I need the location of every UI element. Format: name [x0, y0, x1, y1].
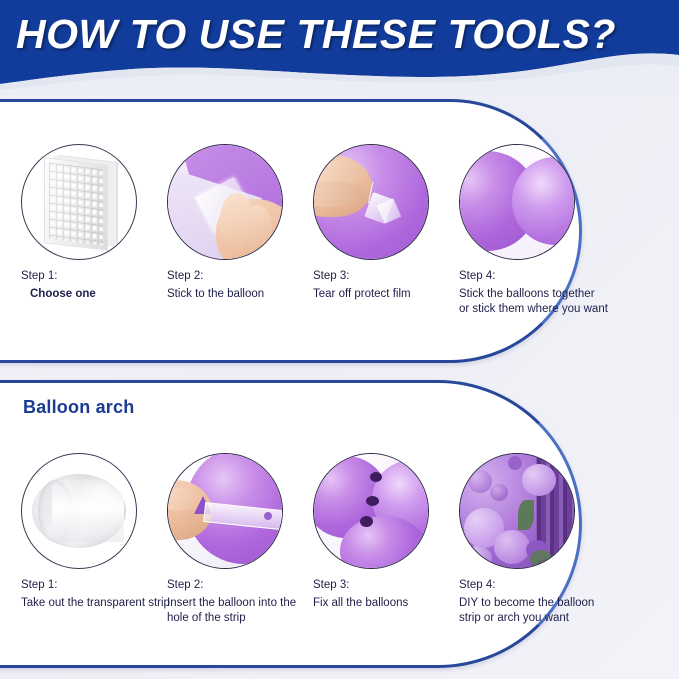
- arch-balloon-7: [508, 456, 522, 470]
- step-label: Step 3:: [313, 269, 463, 284]
- insert-balloon-image: [167, 453, 283, 569]
- glue-dot-sheet-icon: [44, 157, 108, 251]
- finger-2: [242, 205, 272, 253]
- caption: Step 4: DIY to become the balloon strip …: [459, 578, 609, 625]
- arch-balloon-5: [490, 484, 508, 501]
- section-card-balloon-arch: Balloon arch Step 1: Take out the transp…: [0, 380, 582, 668]
- knot-1: [370, 472, 382, 482]
- panel-arch-step-2: Step 2: Insert the balloon into the hole…: [167, 453, 317, 625]
- step-description: Take out the transparent strip: [21, 596, 171, 611]
- step-description-line2: hole of the strip: [167, 611, 317, 626]
- panel-step-3: Step 3: Tear off protect film: [313, 144, 463, 302]
- strip-roll-band: [52, 480, 124, 542]
- caption: Step 2: Stick to the balloon: [167, 269, 317, 302]
- arch-balloon-2: [494, 530, 530, 564]
- greenery-2: [530, 550, 552, 568]
- arch-balloon-3: [522, 464, 556, 496]
- caption: Step 4: Stick the balloons together or s…: [459, 269, 609, 316]
- balloon-arch-photo: [459, 453, 575, 569]
- instruction-graphic: HOW TO USE THESE TOOLS? Step 1: Choose o…: [0, 0, 679, 679]
- step-description-line2: or stick them where you want: [459, 302, 609, 317]
- caption: Step 1: Take out the transparent strip: [21, 578, 171, 611]
- step-description: Stick to the balloon: [167, 287, 317, 302]
- two-balloons-image: [459, 144, 575, 260]
- step-description: Stick the balloons together: [459, 287, 609, 302]
- step-description: Choose one: [30, 287, 171, 302]
- step-label: Step 4:: [459, 269, 609, 284]
- page-title: HOW TO USE THESE TOOLS?: [16, 8, 676, 60]
- panel-step-4: Step 4: Stick the balloons together or s…: [459, 144, 609, 316]
- panel-step-1: Step 1: Choose one: [21, 144, 171, 302]
- photo-background: [460, 454, 574, 568]
- step-description-line2: strip or arch you want: [459, 611, 609, 626]
- knot-3: [360, 516, 373, 527]
- step-label: Step 2:: [167, 269, 317, 284]
- caption: Step 1: Choose one: [21, 269, 171, 302]
- stick-to-balloon-image: [167, 144, 283, 260]
- section-card-basic-tools: Step 1: Choose one Step 2: Stick to the …: [0, 99, 582, 363]
- section-heading: Balloon arch: [23, 397, 134, 418]
- step-label: Step 3:: [313, 578, 463, 593]
- step-description: Insert the balloon into the: [167, 596, 317, 611]
- step-label: Step 1:: [21, 269, 171, 284]
- arch-balloon-6: [462, 546, 492, 569]
- step-description: DIY to become the balloon: [459, 596, 609, 611]
- tear-off-film-image: [313, 144, 429, 260]
- strip-hole: [264, 512, 272, 520]
- step-label: Step 4:: [459, 578, 609, 593]
- transparent-strip-image: [21, 453, 137, 569]
- knot-2: [366, 496, 379, 506]
- caption: Step 2: Insert the balloon into the hole…: [167, 578, 317, 625]
- greenery-1: [518, 500, 534, 530]
- caption: Step 3: Tear off protect film: [313, 269, 463, 302]
- panel-arch-step-1: Step 1: Take out the transparent strip: [21, 453, 171, 611]
- grid-lines: [49, 163, 103, 246]
- step-label: Step 1:: [21, 578, 171, 593]
- fix-balloons-image: [313, 453, 429, 569]
- step-description: Tear off protect film: [313, 287, 463, 302]
- step-label: Step 2:: [167, 578, 317, 593]
- glue-dot-sheet-image: [21, 144, 137, 260]
- panel-arch-step-3: Step 3: Fix all the balloons: [313, 453, 463, 611]
- caption: Step 3: Fix all the balloons: [313, 578, 463, 611]
- header-banner: HOW TO USE THESE TOOLS?: [0, 0, 679, 96]
- panel-arch-step-4: Step 4: DIY to become the balloon strip …: [459, 453, 609, 625]
- finger-1: [167, 488, 200, 510]
- panel-step-2: Step 2: Stick to the balloon: [167, 144, 317, 302]
- step-description: Fix all the balloons: [313, 596, 463, 611]
- arch-balloon-4: [468, 470, 492, 493]
